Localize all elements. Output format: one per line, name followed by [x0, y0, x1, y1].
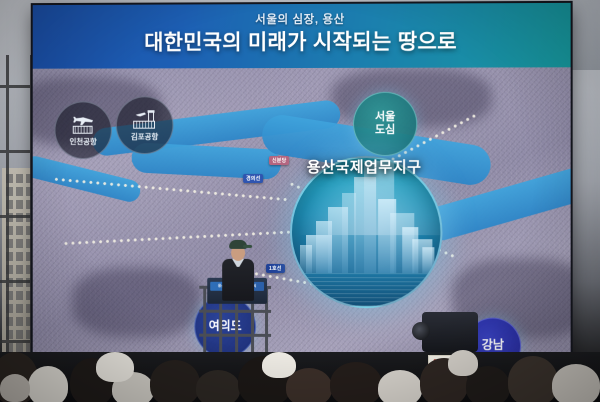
platform-bar [199, 334, 271, 337]
airplane-terminal-icon [132, 109, 158, 129]
line-badge: 1호선 [266, 264, 285, 273]
map-hub-yongsan-ibd[interactable] [290, 156, 442, 309]
platform-bar [199, 310, 271, 313]
node-label: 강남 [482, 339, 504, 353]
skyline-tower [300, 245, 312, 273]
line-badge: 신분당 [269, 156, 289, 165]
hub-label: 용산국제업무지구 [290, 156, 438, 177]
speaker-cap [229, 240, 247, 249]
node-label: 서울 도심 [375, 111, 395, 136]
line-badge: 경의선 [243, 174, 263, 183]
map-node-gimpo-airport[interactable]: 김포공항 [116, 96, 174, 154]
audience-head [0, 374, 30, 402]
map-shadow-area [72, 268, 201, 338]
speaker-person [220, 236, 256, 308]
slide-title: 대한민국의 미래가 시작되는 땅으로 [33, 25, 571, 57]
audience-head [196, 370, 240, 402]
audience-head [508, 356, 558, 402]
audience-head [28, 366, 68, 402]
camera-body [422, 312, 478, 352]
audience-head [552, 364, 600, 402]
camera-lens-icon [412, 322, 430, 340]
audience-head [378, 370, 422, 402]
sky-patch [570, 0, 600, 70]
skyline-tower [422, 248, 434, 274]
map-node-incheon-airport[interactable]: 인천공항 [54, 101, 111, 159]
audience-head [150, 360, 200, 402]
audience-head [262, 352, 296, 378]
airport-label: 김포공항 [131, 131, 158, 142]
airport-label: 인천공항 [69, 136, 96, 147]
map-node-seoul-downtown[interactable]: 서울 도심 [353, 92, 417, 156]
airplane-terminal-icon [70, 114, 96, 134]
slide-header: 서울의 심장, 용산 대한민국의 미래가 시작되는 땅으로 [33, 3, 571, 71]
audience-head [96, 352, 134, 382]
audience-head [330, 362, 382, 402]
led-presentation-screen: 서울의 심장, 용산 대한민국의 미래가 시작되는 땅으로 신분당 경의선 1호… [33, 3, 571, 357]
audience-head [448, 350, 478, 376]
platform-leg [203, 286, 206, 357]
satellite-map: 신분당 경의선 1호선 4호선 5호선 인천공항 [33, 67, 571, 357]
press-event-photo: 서울의 심장, 용산 대한민국의 미래가 시작되는 땅으로 신분당 경의선 1호… [0, 0, 600, 402]
